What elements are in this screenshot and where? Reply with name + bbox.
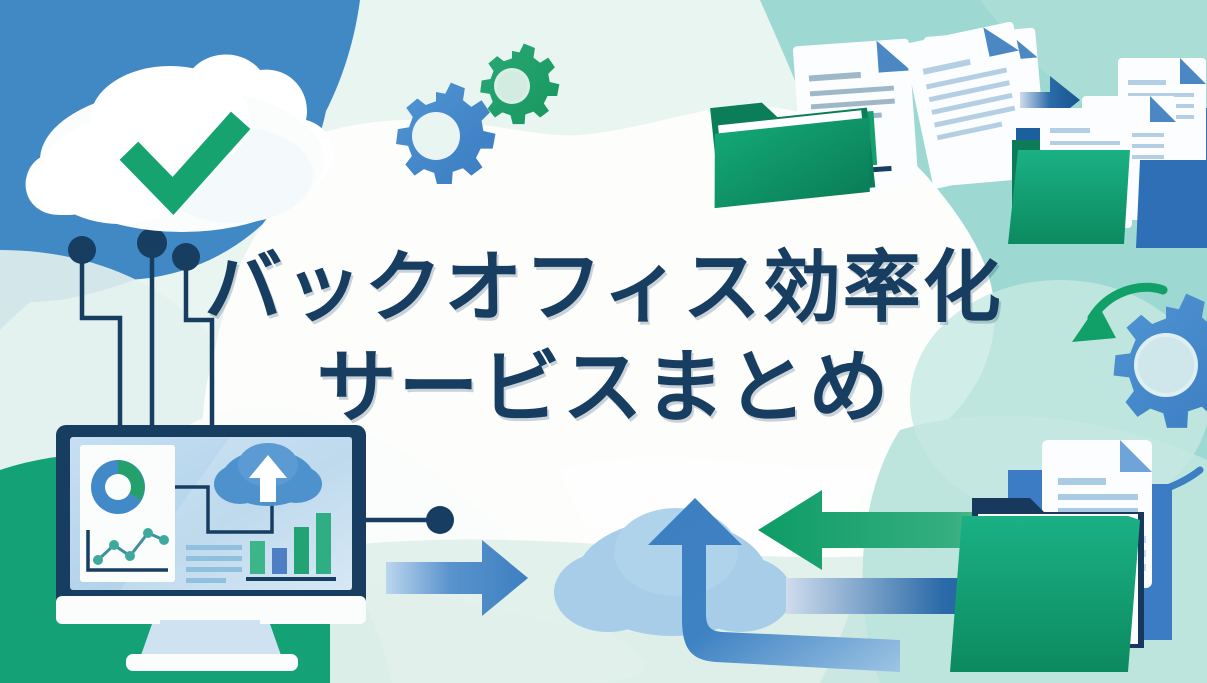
gear-icon-green — [480, 44, 559, 125]
cloud-with-checkmark-icon — [26, 54, 334, 232]
folder-stack-bottom-right — [950, 440, 1172, 672]
gear-icon-blue-small — [396, 83, 496, 184]
illustration-layer — [0, 0, 1207, 683]
hero-banner: バックオフィス効率化 サービスまとめ — [0, 0, 1207, 683]
gear-large-right — [1114, 294, 1207, 428]
analytics-monitor — [56, 425, 366, 671]
arrow-right-monitor-to-cloud — [386, 540, 528, 616]
